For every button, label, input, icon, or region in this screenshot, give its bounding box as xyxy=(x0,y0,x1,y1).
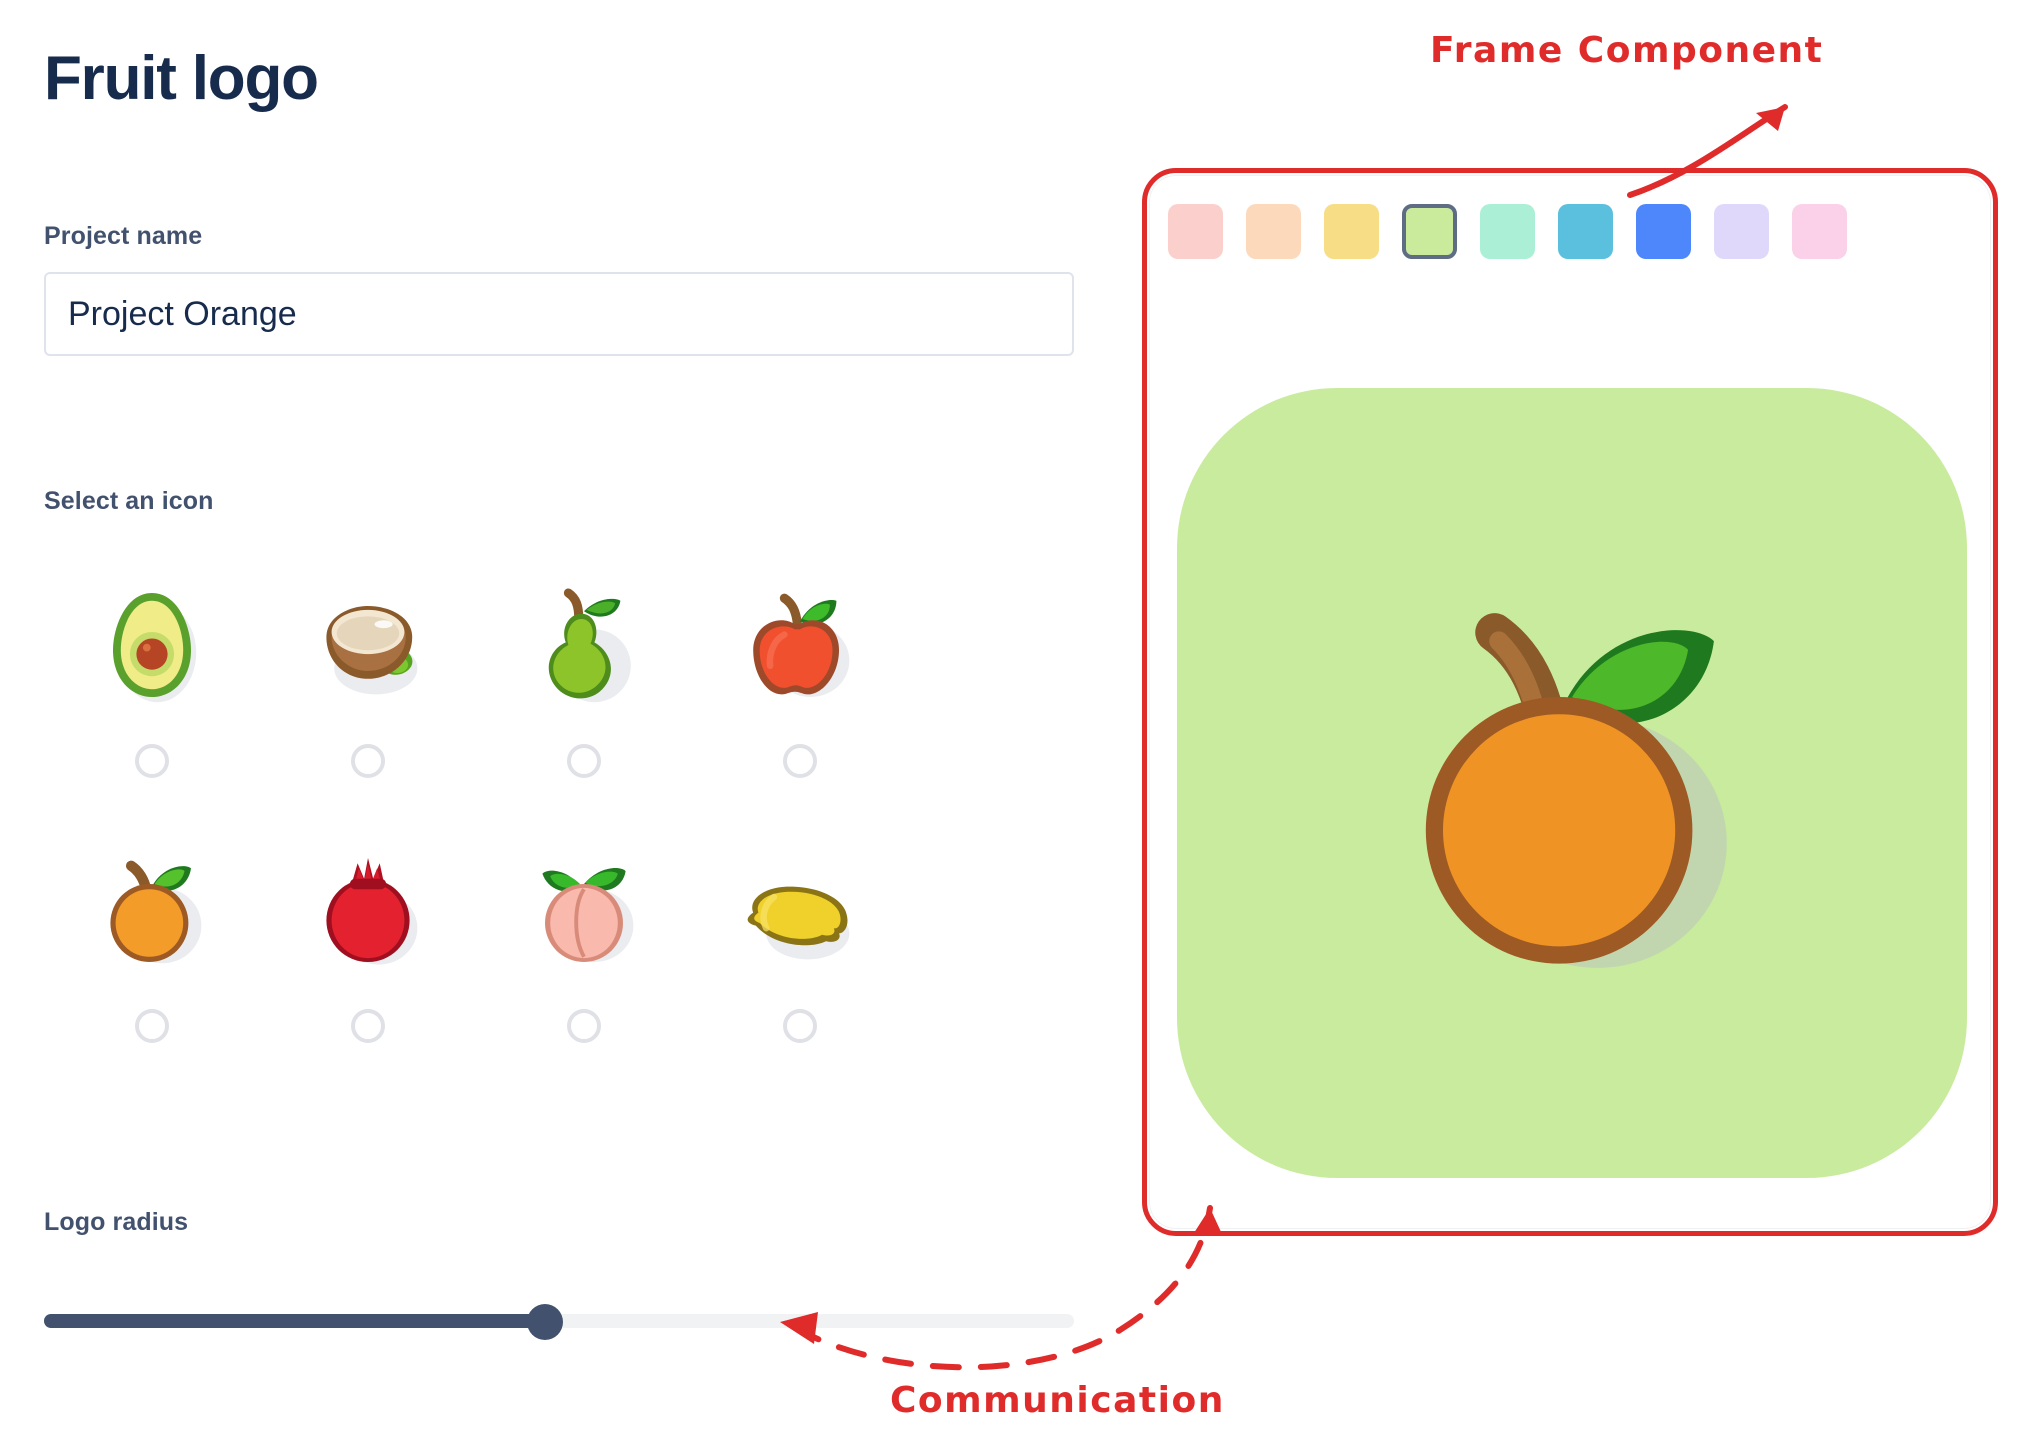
icon-radio-peach[interactable] xyxy=(567,1009,601,1043)
avocado-icon xyxy=(87,580,217,710)
icon-option-avocado[interactable] xyxy=(44,580,260,845)
logo-radius-label: Logo radius xyxy=(44,1208,188,1237)
orange-logo-icon xyxy=(1357,568,1787,998)
icon-option-pomegranate[interactable] xyxy=(260,845,476,1110)
lavender-swatch[interactable] xyxy=(1714,204,1769,259)
icon-radio-lemon[interactable] xyxy=(783,1009,817,1043)
mint-swatch[interactable] xyxy=(1480,204,1535,259)
rose-swatch[interactable] xyxy=(1792,204,1847,259)
icon-radio-pear[interactable] xyxy=(567,744,601,778)
icon-selection-grid xyxy=(44,580,834,1110)
pink-swatch[interactable] xyxy=(1168,204,1223,259)
icon-option-orange[interactable] xyxy=(44,845,260,1110)
slider-thumb[interactable] xyxy=(527,1304,563,1340)
icon-option-lemon[interactable] xyxy=(692,845,908,1110)
settings-panel: Fruit logo Project name Select an icon xyxy=(44,0,1104,1446)
icon-radio-apple[interactable] xyxy=(783,744,817,778)
icon-radio-pomegranate[interactable] xyxy=(351,1009,385,1043)
icon-radio-orange[interactable] xyxy=(135,1009,169,1043)
slider-fill xyxy=(44,1314,544,1328)
project-name-label: Project name xyxy=(44,222,202,251)
peach-icon xyxy=(519,845,649,975)
green-swatch[interactable] xyxy=(1402,204,1457,259)
pomegranate-icon xyxy=(303,845,433,975)
icon-radio-avocado[interactable] xyxy=(135,744,169,778)
logo-radius-slider[interactable] xyxy=(44,1296,1074,1346)
apple-icon xyxy=(735,580,865,710)
blue-swatch[interactable] xyxy=(1636,204,1691,259)
annotation-frame-component-label: Frame Component xyxy=(1430,30,1823,71)
annotation-communication-label: Communication xyxy=(890,1380,1225,1421)
page-title: Fruit logo xyxy=(44,48,318,110)
icon-option-coconut[interactable] xyxy=(260,580,476,845)
icon-radio-coconut[interactable] xyxy=(351,744,385,778)
pear-icon xyxy=(519,580,649,710)
yellow-swatch[interactable] xyxy=(1324,204,1379,259)
orange-icon xyxy=(87,845,217,975)
coconut-icon xyxy=(303,580,433,710)
project-name-input[interactable] xyxy=(44,272,1074,356)
icon-option-peach[interactable] xyxy=(476,845,692,1110)
lemon-icon xyxy=(735,845,865,975)
icon-option-pear[interactable] xyxy=(476,580,692,845)
color-swatch-row xyxy=(1168,204,1847,259)
logo-preview-canvas xyxy=(1177,388,1967,1178)
select-an-icon-label: Select an icon xyxy=(44,487,214,516)
cyan-swatch[interactable] xyxy=(1558,204,1613,259)
peach-swatch[interactable] xyxy=(1246,204,1301,259)
icon-option-apple[interactable] xyxy=(692,580,908,845)
